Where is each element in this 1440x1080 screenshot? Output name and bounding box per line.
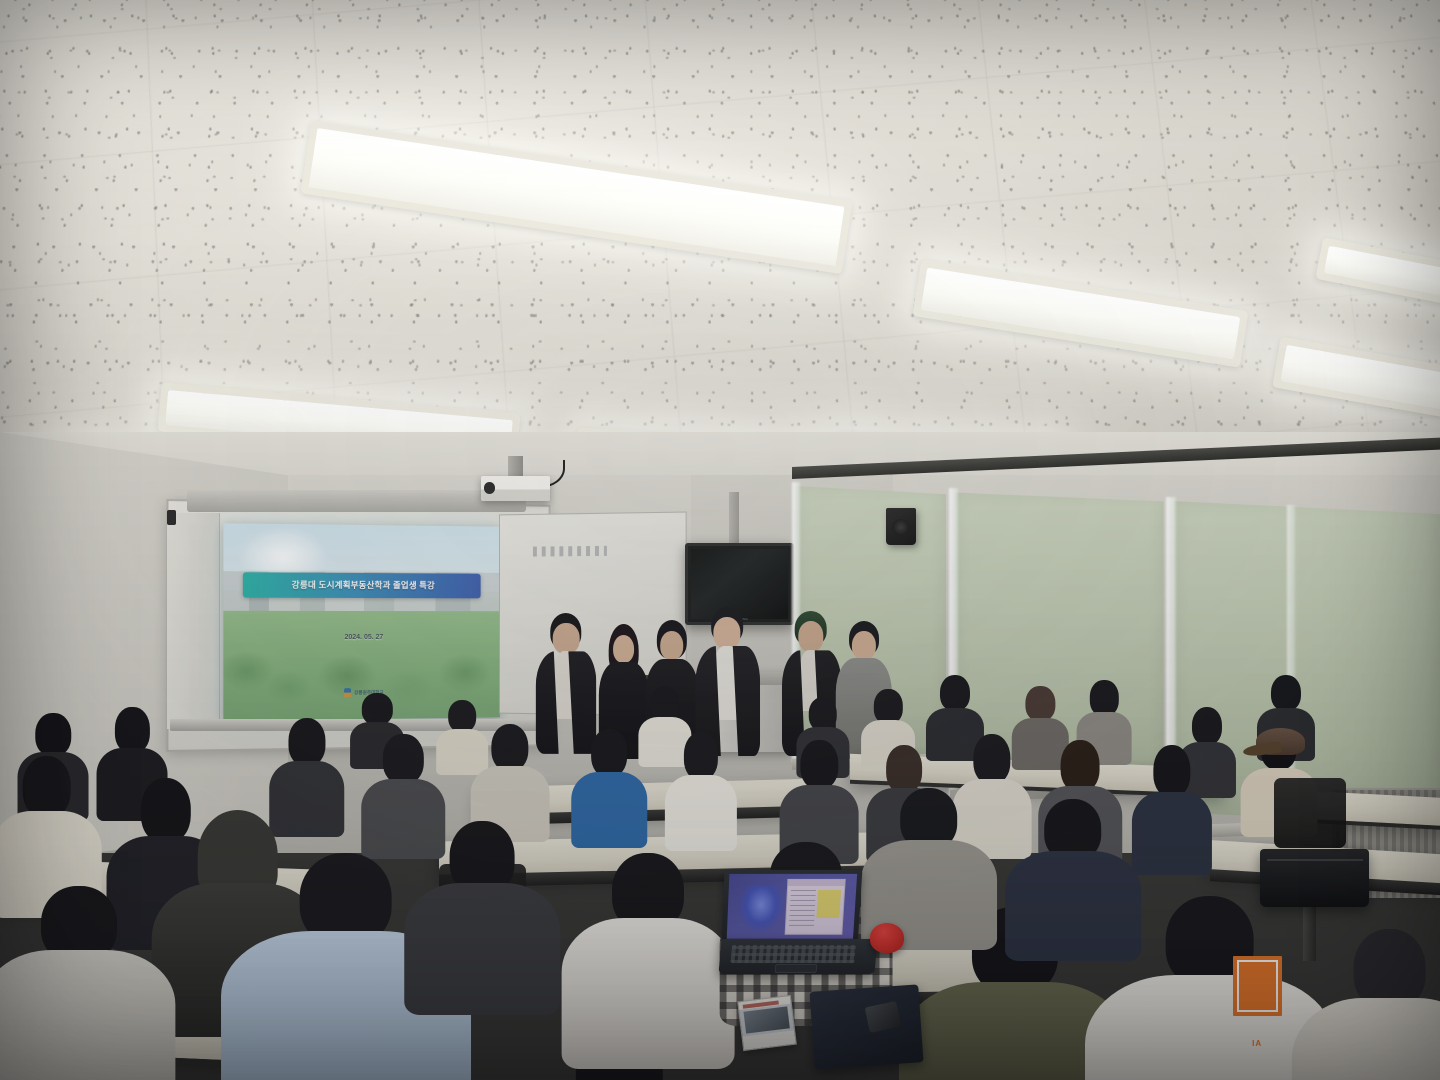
audience-member-white-tee [576,853,720,1069]
windows-bloom-wallpaper-icon [737,886,785,934]
head [1026,686,1055,721]
presenter-head [852,631,876,660]
book-cover-image [744,1007,790,1034]
head [1192,707,1222,745]
projector-mount [508,456,522,479]
head [22,756,71,818]
lecture-hall-photo: 강릉대 도시계획부동산학과 졸업생 특강 2024. 05. 27 강릉원주대학… [0,0,1440,1080]
torso [0,950,176,1080]
head [591,729,627,777]
laptop-screen [727,874,857,939]
slide-title-banner: 강릉대 도시계획부동산학과 졸업생 특강 [243,572,481,598]
projector-lens-icon [484,482,496,494]
head [1153,745,1190,797]
wall-speaker-icon [886,508,916,546]
torso [1291,998,1440,1080]
black-bag-on-desk [1260,849,1369,907]
laptop-trackpad[interactable] [775,964,818,973]
head [36,713,71,756]
presenter-head [798,621,823,651]
head [1090,680,1118,715]
head [288,718,325,766]
head [886,745,922,793]
audience-member-mid-7 [670,732,733,851]
slide-date-text: 2024. 05. 27 [223,634,499,642]
head [383,734,423,784]
slide-title-text: 강릉대 도시계획부동산학과 졸업생 특강 [291,579,434,592]
head [1061,740,1100,792]
red-mouse[interactable] [870,923,905,952]
laptop-sleeve [810,984,925,1069]
head [801,740,838,790]
torso [405,883,561,1015]
whiteboard-writing [532,546,606,557]
laptop-keyboard[interactable] [730,945,856,963]
window-message-rows [789,890,816,928]
head [448,700,476,732]
bag-zipper [1267,859,1363,861]
chair-back-2 [1274,778,1346,848]
book-on-desk [737,995,796,1051]
presenter-head [553,623,580,654]
student-laptop[interactable] [720,870,876,974]
presenter-head [613,635,635,663]
baseball-cap-icon [1256,728,1305,755]
tv-mount-post [729,492,739,548]
whiteboard-left-edge [167,513,220,729]
audience-member-near-right [1310,929,1440,1080]
head [874,689,902,723]
tshirt-text: IA [1221,1039,1293,1048]
window-highlight-panel [817,890,841,918]
head [684,732,718,780]
audience-member-mid-6 [576,729,642,848]
screen-roller-housing [187,490,525,512]
head [491,724,528,772]
torso [562,918,735,1069]
audience-member-navy [1015,799,1130,961]
presenter-head [660,631,684,660]
presenter-head [714,617,741,648]
head [115,707,149,752]
torso [1005,851,1141,961]
head [650,686,679,720]
torso [571,772,647,848]
head [362,693,392,725]
laptop-chat-window [785,880,846,936]
screen-clip-left [167,510,176,525]
torso [665,775,737,851]
head [809,697,838,731]
audience-member-near-3 [0,886,158,1080]
audience-member-mid-12 [1138,745,1207,875]
window-titlebar [789,881,845,887]
laptop-base [718,939,877,974]
head [973,734,1010,784]
tshirt-graphic-icon [1233,956,1282,1016]
head [1271,675,1301,711]
head [940,675,970,711]
university-logo-mark [344,688,351,697]
torso [1132,792,1212,875]
projection-screen: 강릉대 도시계획부동산학과 졸업생 특강 2024. 05. 27 강릉원주대학… [223,523,499,721]
audience-member-near-4 [418,821,548,1015]
laptop-lid [722,870,863,944]
